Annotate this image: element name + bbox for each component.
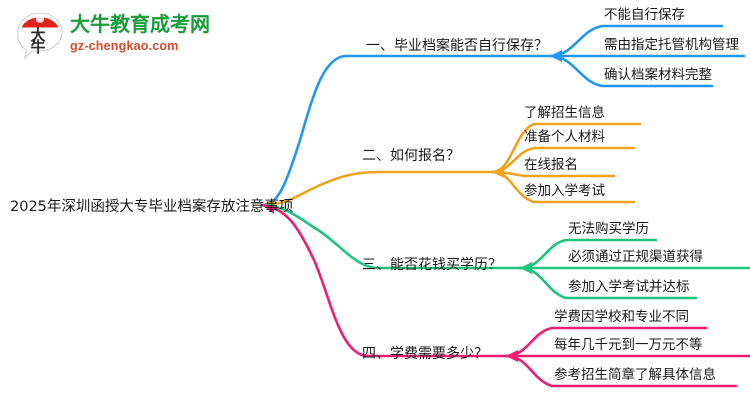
- mindmap-branch-1[interactable]: 一、毕业档案能否自行保存？: [366, 37, 548, 55]
- mindmap-branch-4[interactable]: 四、学费需要多少？: [362, 345, 488, 363]
- branch-4-arrow: [506, 350, 518, 362]
- branch-1-arrow: [550, 50, 562, 62]
- mindmap-leaf-2-1[interactable]: 了解招生信息: [524, 105, 605, 122]
- mindmap-branch-2[interactable]: 二、如何报名？: [362, 147, 460, 165]
- mindmap-screenshot: 大 牛 大牛教育成考网 gz-chengkao.com: [0, 0, 750, 410]
- mindmap-leaf-4-2[interactable]: 每年几千元到一万元不等: [554, 337, 703, 354]
- mindmap-root-node[interactable]: 2025年深圳函授大专毕业档案存放注意事项: [10, 198, 293, 216]
- mindmap-leaf-2-2[interactable]: 准备个人材料: [524, 129, 605, 146]
- mindmap-leaf-3-1[interactable]: 无法购买学历: [568, 221, 649, 238]
- mindmap-leaf-1-3[interactable]: 确认档案材料完整: [604, 67, 712, 84]
- mindmap-leaf-2-3[interactable]: 在线报名: [524, 157, 578, 174]
- mindmap-leaf-1-2[interactable]: 需由指定托管机构管理: [604, 37, 739, 54]
- mindmap-leaf-4-1[interactable]: 学费因学校和专业不同: [554, 309, 689, 326]
- mindmap-leaf-1-1[interactable]: 不能自行保存: [604, 7, 685, 24]
- mindmap-leaf-2-4[interactable]: 参加入学考试: [524, 183, 605, 200]
- branch-2-arrow: [492, 166, 504, 178]
- mindmap-branch-3[interactable]: 三、能否花钱买学历？: [362, 256, 502, 274]
- mindmap-leaf-3-2[interactable]: 必须通过正规渠道获得: [568, 249, 703, 266]
- mindmap-leaf-3-3[interactable]: 参加入学考试并达标: [568, 279, 690, 296]
- branch-3-arrow: [520, 262, 532, 274]
- mindmap-leaf-4-3[interactable]: 参考招生简章了解具体信息: [554, 367, 716, 384]
